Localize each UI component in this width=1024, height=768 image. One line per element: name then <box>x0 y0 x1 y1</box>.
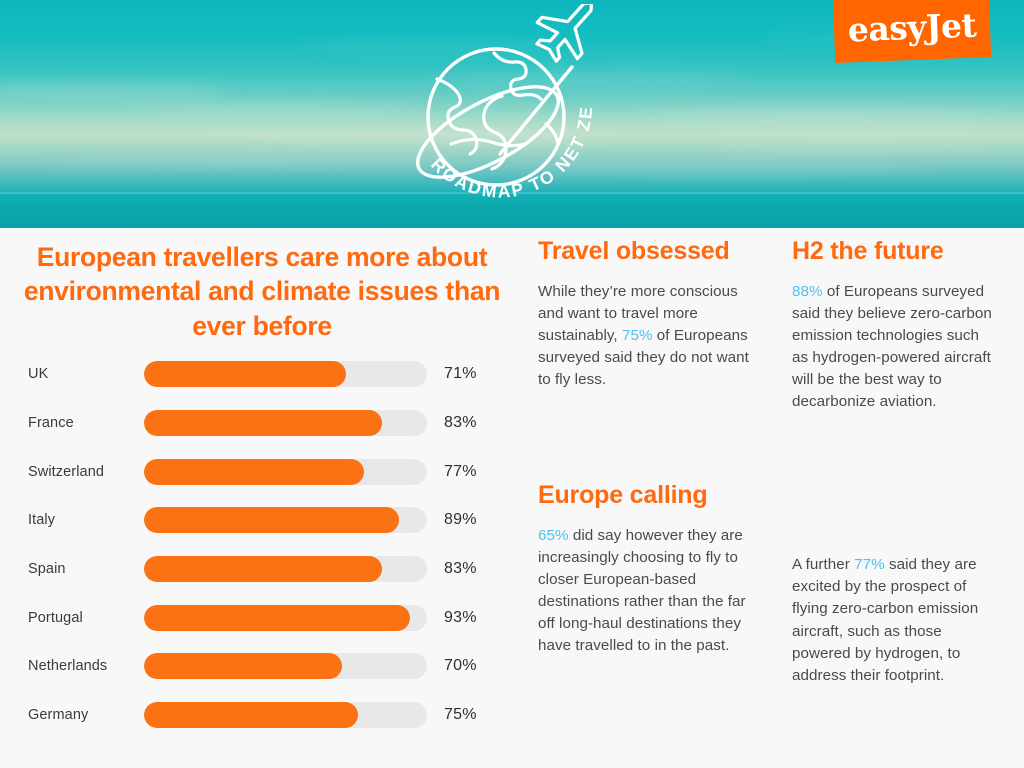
bar-value: 83% <box>444 414 477 432</box>
bar-fill <box>144 653 342 679</box>
bar-track <box>144 507 427 533</box>
section-body-europe-calling: 65% did say however they are increasingl… <box>538 525 760 658</box>
bar-value: 89% <box>444 511 477 529</box>
bar-track <box>144 556 427 582</box>
bar-row: Italy89% <box>0 496 512 545</box>
body-text-post: said they are excited by the prospect of… <box>792 556 978 684</box>
roadmap-logo-text: ROADMAP TO NET ZERO <box>396 4 596 202</box>
section-body-travel-obsessed: While they’re more conscious and want to… <box>538 281 760 392</box>
section-europe-calling: Europe calling 65% did say however they … <box>538 480 760 658</box>
bar-fill <box>144 507 399 533</box>
easyjet-logo-text: easyJet <box>847 5 977 49</box>
bar-fill <box>144 361 346 387</box>
bar-row: Spain83% <box>0 545 512 594</box>
airplane-icon <box>527 4 612 71</box>
middle-column: Travel obsessed While they’re more consc… <box>538 228 760 768</box>
bar-value: 75% <box>444 706 477 724</box>
body-text-pre: A further <box>792 556 854 573</box>
bar-fill <box>144 556 382 582</box>
globe-continents-icon <box>437 53 558 169</box>
bar-value: 93% <box>444 609 477 627</box>
bar-row: Germany75% <box>0 691 512 740</box>
stat-highlight: 77% <box>854 556 885 573</box>
section-h2-the-future: H2 the future 88% of Europeans surveyed … <box>792 236 998 414</box>
bar-track <box>144 361 427 387</box>
bar-label: Portugal <box>28 610 83 626</box>
bar-track <box>144 653 427 679</box>
bar-row: Portugal93% <box>0 593 512 642</box>
body-text-post: of Europeans surveyed said they believe … <box>792 283 992 411</box>
bar-track <box>144 459 427 485</box>
bar-value: 77% <box>444 463 477 481</box>
bar-row: UK71% <box>0 350 512 399</box>
bar-row: Netherlands70% <box>0 642 512 691</box>
bar-value: 83% <box>444 560 477 578</box>
hero-banner: ROADMAP TO NET ZERO easyJet <box>0 0 1024 228</box>
stat-highlight: 88% <box>792 283 823 300</box>
bar-chart: UK71%France83%Switzerland77%Italy89%Spai… <box>0 350 512 740</box>
cloud-decoration <box>0 84 230 98</box>
bar-fill <box>144 459 364 485</box>
bar-row: France83% <box>0 399 512 448</box>
bar-row: Switzerland77% <box>0 447 512 496</box>
stat-highlight: 65% <box>538 527 569 544</box>
stat-highlight: 75% <box>622 327 653 344</box>
bar-label: Netherlands <box>28 658 107 674</box>
cloud-decoration <box>120 104 420 115</box>
bar-track <box>144 410 427 436</box>
section-title-h2-the-future: H2 the future <box>792 236 998 267</box>
cloud-decoration <box>640 110 1000 122</box>
bar-label: Italy <box>28 512 55 528</box>
section-body-further: A further 77% said they are excited by t… <box>792 554 998 687</box>
bar-fill <box>144 702 358 728</box>
page-title: European travellers care more about envi… <box>22 240 502 343</box>
easyjet-logo[interactable]: easyJet <box>833 0 991 63</box>
section-title-europe-calling: Europe calling <box>538 480 760 511</box>
bar-track <box>144 605 427 631</box>
bar-label: UK <box>28 366 48 382</box>
right-column: H2 the future 88% of Europeans surveyed … <box>792 228 1004 768</box>
bar-value: 70% <box>444 657 477 675</box>
section-further: A further 77% said they are excited by t… <box>792 554 998 687</box>
bar-value: 71% <box>444 365 477 383</box>
section-body-h2-the-future: 88% of Europeans surveyed said they beli… <box>792 281 998 414</box>
bar-fill <box>144 605 410 631</box>
bar-label: Germany <box>28 707 88 723</box>
bar-label: Switzerland <box>28 464 104 480</box>
body-text-post: did say however they are increasingly ch… <box>538 527 746 655</box>
cloud-decoration <box>700 140 1000 150</box>
bar-label: France <box>28 415 74 431</box>
bar-label: Spain <box>28 561 66 577</box>
chart-column: European travellers care more about envi… <box>0 228 512 768</box>
section-travel-obsessed: Travel obsessed While they’re more consc… <box>538 236 760 391</box>
bar-fill <box>144 410 382 436</box>
section-title-travel-obsessed: Travel obsessed <box>538 236 760 267</box>
content-area: European travellers care more about envi… <box>0 228 1024 768</box>
bar-track <box>144 702 427 728</box>
infographic-page: ROADMAP TO NET ZERO easyJet European tra… <box>0 0 1024 768</box>
roadmap-to-net-zero-logo: ROADMAP TO NET ZERO <box>396 4 622 220</box>
